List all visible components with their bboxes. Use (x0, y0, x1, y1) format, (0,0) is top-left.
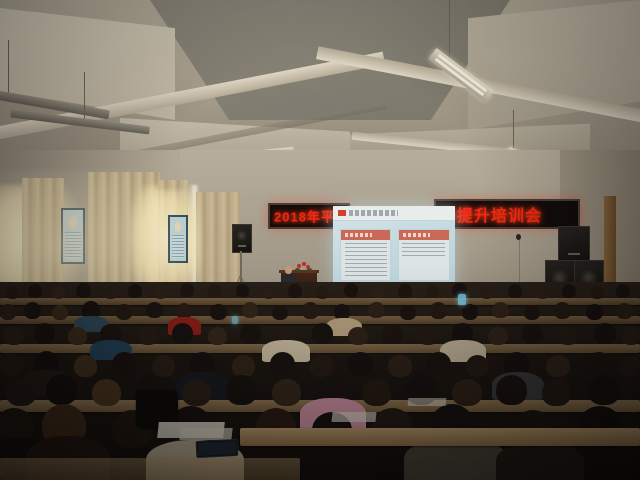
projection-screen (333, 206, 455, 290)
audience-head (34, 323, 55, 344)
audience-head (154, 287, 167, 299)
audience-head (522, 324, 543, 344)
audience-section (0, 282, 640, 480)
slide-box-header (341, 230, 390, 240)
audience-head (52, 287, 65, 299)
audience-head (262, 287, 275, 299)
pa-speaker-upper-right (558, 226, 590, 261)
audience-head (6, 378, 36, 406)
speaker-badge (568, 253, 580, 255)
audience-head (426, 352, 451, 376)
pa-speaker-left-stand (232, 224, 252, 253)
audience-head (128, 284, 142, 298)
audience-head (348, 327, 368, 345)
audience-head (236, 284, 249, 297)
desk-front-row-edge (0, 458, 300, 480)
slide-content-box-right (398, 229, 450, 281)
slide-box-lines (402, 243, 445, 258)
audience-head (288, 284, 302, 298)
audience-head (622, 326, 640, 345)
audience-head (496, 375, 527, 405)
audience-head (418, 326, 438, 345)
led-banner-right: 力提升培训会 (434, 199, 580, 229)
audience-head (24, 302, 41, 319)
audience-head (480, 286, 493, 299)
audience-head (452, 379, 482, 406)
poster-emblem (69, 216, 77, 227)
papers-on-desk-3 (331, 412, 376, 422)
audience-head (28, 284, 42, 298)
poster-emblem (175, 222, 181, 232)
audience-head (398, 284, 412, 298)
audience-head (312, 323, 333, 344)
slide-title-text (349, 210, 398, 215)
audience-head (388, 355, 412, 377)
audience-head (368, 302, 385, 318)
audience-head (272, 305, 288, 320)
slide-content-box-left (340, 229, 391, 281)
audience-head (316, 286, 329, 299)
audience-head (68, 327, 87, 345)
audience-head (6, 286, 19, 299)
audience-head (240, 324, 261, 344)
audience-head (508, 284, 522, 298)
audience-head (616, 284, 630, 298)
audience-head (272, 379, 301, 406)
audience-head (104, 286, 117, 299)
audience-head (400, 305, 416, 320)
papers-on-desk-4 (408, 398, 447, 406)
audience-head (138, 326, 158, 345)
audience-head (0, 304, 16, 320)
audience-shoulders (496, 442, 584, 480)
papers-on-desk-2 (179, 428, 232, 440)
leaf (307, 268, 312, 271)
audience-head (492, 302, 509, 318)
audience-head (590, 286, 604, 299)
audience-head (4, 326, 24, 345)
presenter-head (285, 266, 292, 274)
audience-head (620, 355, 640, 377)
audience-head (242, 302, 258, 318)
phone-screen-lit (458, 294, 466, 305)
audience-head (52, 305, 68, 320)
audience-head (226, 375, 257, 405)
audience-head (616, 303, 633, 319)
audience-head (180, 283, 194, 297)
audience-head (546, 355, 570, 377)
audience-head (382, 324, 403, 344)
desk-front-row (240, 428, 640, 446)
audience-head (112, 352, 137, 376)
phone-screen-lit-2 (232, 316, 238, 324)
audience-head (488, 327, 508, 345)
audience-head (92, 379, 121, 406)
auditorium-photo: 2018年平凉 力提升培训会 (0, 0, 640, 480)
led-banner-text-right: 力提升培训会 (440, 202, 542, 226)
audience-head (362, 379, 391, 406)
wall-poster-right (168, 215, 188, 263)
mic-head (516, 234, 521, 240)
audience-head (208, 285, 222, 298)
audience-head (0, 354, 24, 377)
audience-head (302, 302, 319, 319)
smartphone-on-desk (196, 439, 239, 458)
slide-box-header (399, 230, 449, 240)
flower-arrangement (295, 262, 313, 272)
audience-head (594, 323, 616, 344)
audience-head (586, 304, 603, 320)
audience-head (210, 304, 227, 320)
audience-head (270, 352, 295, 376)
slide-box-lines (345, 243, 387, 276)
audience-head (554, 302, 571, 319)
audience-head (74, 355, 97, 377)
audience-head (146, 302, 163, 318)
audience-head (46, 374, 77, 405)
audience-head (542, 379, 571, 406)
audience-head (558, 326, 578, 345)
audience-head (562, 284, 576, 298)
audience-head (182, 379, 211, 406)
audience-head (76, 283, 91, 298)
audience-head (344, 283, 358, 297)
audience-head (426, 285, 439, 298)
slide-header (333, 206, 455, 221)
audience-head (172, 323, 193, 344)
audience-head (462, 304, 478, 320)
slide-logo-icon (338, 210, 347, 216)
projection-screen-frame (333, 206, 455, 290)
poster-text-lines (65, 232, 80, 259)
audience-head (466, 355, 489, 377)
audience-head (588, 375, 620, 405)
speaker-badge (238, 245, 246, 247)
light-rod-2 (84, 72, 85, 120)
audience-head (430, 302, 447, 319)
audience-head (524, 305, 540, 320)
audience-head (232, 355, 255, 377)
audience-head (152, 355, 175, 377)
poster-text-lines (172, 235, 184, 258)
audience-head (586, 352, 612, 376)
wall-poster-left (61, 208, 85, 264)
audience-head (208, 327, 227, 345)
speaker-cone (236, 230, 247, 241)
audience-head (116, 304, 132, 320)
audience-head (372, 286, 385, 298)
audience-head (536, 287, 549, 299)
audience-head (310, 355, 333, 377)
audience-head (348, 352, 373, 376)
